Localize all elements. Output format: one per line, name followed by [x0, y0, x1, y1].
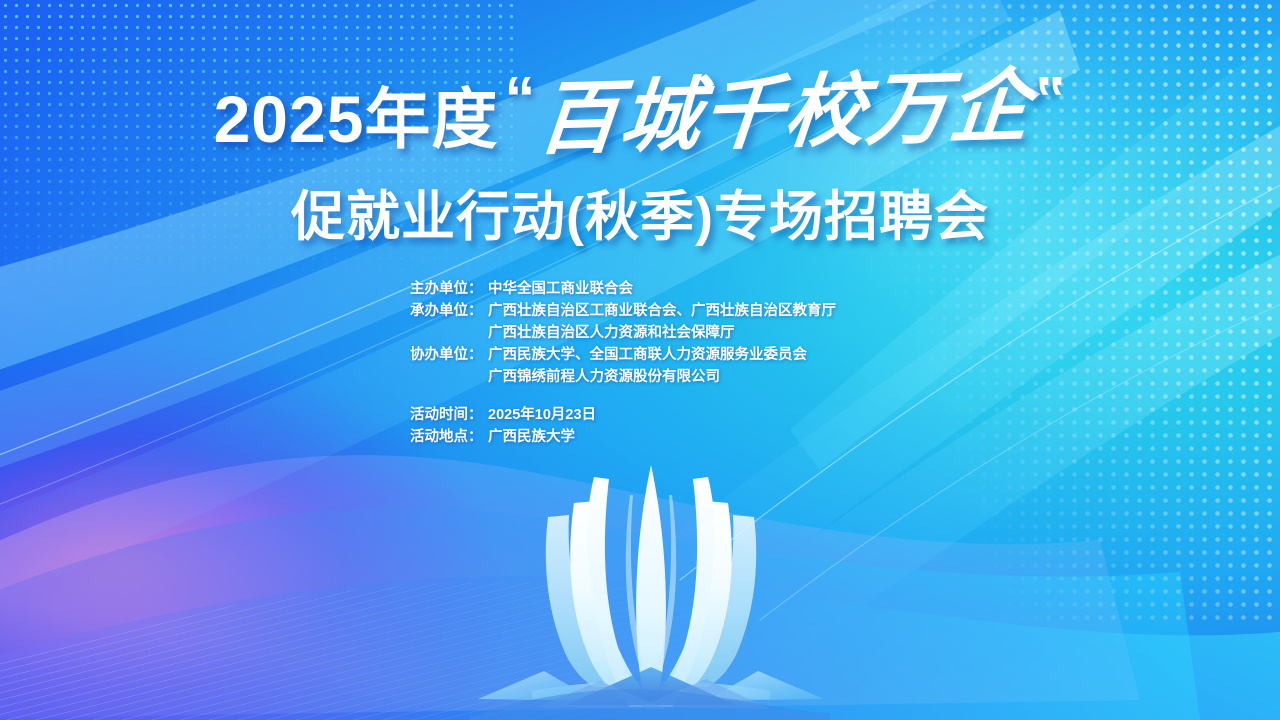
quote-open: “: [504, 72, 535, 128]
organizer-label: 主办单位：: [410, 278, 488, 300]
title-brush-group: “ 百城千校万企 ”: [504, 72, 1066, 152]
info-row-organizer: 主办单位： 中华全国工商业联合会: [410, 278, 970, 300]
main-title: 2025年度 “ 百城千校万企 ”: [0, 72, 1280, 152]
coorganizer-value-line2: 广西锦绣前程人力资源股份有限公司: [410, 366, 970, 388]
coorganizer-value: 广西民族大学、全国工商联人力资源服务业委员会: [488, 344, 970, 366]
title-year: 2025年度: [214, 86, 499, 152]
info-row-coorganizer: 协办单位： 广西民族大学、全国工商联人力资源服务业委员会: [410, 344, 970, 366]
quote-close: ”: [1035, 72, 1066, 128]
poster-canvas: 2025年度 “ 百城千校万企 ” 促就业行动(秋季)专场招聘会 主办单位： 中…: [0, 0, 1280, 720]
place-value: 广西民族大学: [488, 426, 970, 448]
subtitle: 促就业行动(秋季)专场招聘会: [0, 172, 1280, 251]
time-label: 活动时间：: [410, 404, 488, 426]
title-brush-text: 百城千校万企: [531, 65, 1040, 159]
host-label: 承办单位：: [410, 300, 488, 322]
coorganizer-label: 协办单位：: [410, 344, 488, 366]
info-row-place: 活动地点： 广西民族大学: [410, 426, 970, 448]
host-value: 广西壮族自治区工商业联合会、广西壮族自治区教育厅: [488, 300, 970, 322]
organizer-value: 中华全国工商业联合会: [488, 278, 970, 300]
info-row-host: 承办单位： 广西壮族自治区工商业联合会、广西壮族自治区教育厅: [410, 300, 970, 322]
poster-content: 2025年度 “ 百城千校万企 ” 促就业行动(秋季)专场招聘会 主办单位： 中…: [0, 0, 1280, 720]
host-value-line2: 广西壮族自治区人力资源和社会保障厅: [410, 322, 970, 344]
info-spacer: [410, 388, 970, 404]
info-block: 主办单位： 中华全国工商业联合会 承办单位： 广西壮族自治区工商业联合会、广西壮…: [410, 278, 970, 448]
info-row-time: 活动时间： 2025年10月23日: [410, 404, 970, 426]
place-label: 活动地点：: [410, 426, 488, 448]
time-value: 2025年10月23日: [488, 404, 970, 426]
